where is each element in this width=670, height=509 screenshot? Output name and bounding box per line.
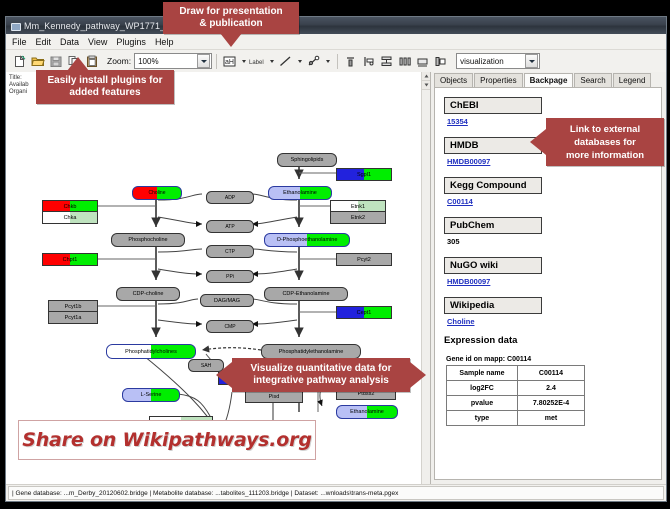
node-label: SAH <box>201 363 211 369</box>
cell-value-sample-name: C00114 <box>518 366 585 381</box>
node-label: Phosphocholine <box>128 237 167 243</box>
tab-legend[interactable]: Legend <box>613 73 652 87</box>
node-label: Phosphatidylcholines <box>125 349 177 355</box>
cell-value-type: met <box>518 411 585 426</box>
anchor-dropdown-icon[interactable] <box>323 52 333 70</box>
callout-install-plugins: Easily install plugins for added feature… <box>36 70 174 104</box>
pathway-gene-node[interactable]: Chka <box>42 211 98 224</box>
tab-properties[interactable]: Properties <box>474 73 522 87</box>
value-pubchem: 305 <box>447 237 661 246</box>
callout-visualize-arrow-left-icon <box>216 362 232 388</box>
node-label: Pcyt1b <box>65 304 82 310</box>
side-panel-tabs: Objects Properties Backpage Search Legen… <box>431 72 666 87</box>
node-label: ADP <box>225 195 235 201</box>
node-label: Chka <box>64 215 77 221</box>
zoom-value: 100% <box>138 57 158 66</box>
callout-links-arrow-icon <box>530 129 546 155</box>
section-header-nugo: NuGO wiki <box>444 257 542 274</box>
align-left-icon[interactable] <box>360 52 377 70</box>
pathway-gene-node[interactable]: Etnk2 <box>330 211 386 224</box>
table-row: Sample name C00114 <box>447 366 585 381</box>
callout-links-line2: databases for <box>574 136 636 149</box>
callout-plugins-arrow-icon <box>67 57 89 71</box>
cell-value-pvalue: 7.80252E-4 <box>518 396 585 411</box>
line-icon[interactable] <box>277 52 294 70</box>
cell-key-pvalue: pvalue <box>447 396 518 411</box>
callout-visualize-line2: integrative pathway analysis <box>253 375 389 387</box>
node-label: ATP <box>225 224 234 230</box>
tab-backpage[interactable]: Backpage <box>524 73 574 88</box>
scroll-up-icon[interactable] <box>422 72 430 81</box>
gene-id-label: Gene id on mapp: C00114 <box>446 356 661 363</box>
link-wikipedia[interactable]: Choline <box>447 317 661 326</box>
svg-text:aH: aH <box>225 59 234 66</box>
visualization-dropdown-icon[interactable] <box>525 54 538 68</box>
pathway-metabolite-node[interactable]: CDP-Ethanolamine <box>264 287 348 301</box>
visualization-combobox[interactable]: visualization <box>456 53 540 69</box>
pathway-gene-node[interactable]: Cept1 <box>336 306 392 319</box>
node-label: Chkb <box>64 204 77 210</box>
tab-search[interactable]: Search <box>574 73 611 87</box>
callout-draw-line1: Draw for presentation <box>179 6 282 18</box>
callout-links-line3: more information <box>566 149 644 162</box>
pathway-gene-node[interactable]: Chpt1 <box>42 253 98 266</box>
zoom-combobox[interactable]: 100% <box>134 53 212 69</box>
pathway-metabolite-node[interactable]: Phosphocholine <box>111 233 185 247</box>
menu-item-file[interactable]: File <box>12 37 27 47</box>
cell-key-sample-name: Sample name <box>447 366 518 381</box>
cell-key-log2fc: log2FC <box>447 381 518 396</box>
z-order-icon[interactable] <box>432 52 449 70</box>
node-label: Etnk2 <box>351 215 365 221</box>
node-label: Cept1 <box>357 310 372 316</box>
node-label: DAG/MAG <box>214 298 240 304</box>
datanode-dropdown-icon[interactable] <box>239 52 249 70</box>
save-disk-icon[interactable] <box>47 52 64 70</box>
line-dropdown-icon[interactable] <box>295 52 305 70</box>
menu-item-edit[interactable]: Edit <box>36 37 52 47</box>
menu-item-plugins[interactable]: Plugins <box>116 37 146 47</box>
expression-data-table: Sample name C00114 log2FC 2.4 pvalue 7.8… <box>446 365 585 426</box>
section-header-wikipedia: Wikipedia <box>444 297 542 314</box>
size-common-icon[interactable] <box>414 52 431 70</box>
node-label: L-Serine <box>141 392 162 398</box>
pathway-gene-node[interactable]: Pcyt1a <box>48 311 98 324</box>
zoom-dropdown-icon[interactable] <box>197 54 210 68</box>
node-label: O-Phosphoethanolamine <box>277 237 338 243</box>
callout-draw-for-publication: Draw for presentation & publication <box>163 2 299 34</box>
node-label: Phosphatidylethanolamine <box>279 349 344 355</box>
callout-plugins-line2: added features <box>69 87 140 99</box>
label-dropdown-icon[interactable] <box>267 52 277 70</box>
section-header-chebi: ChEBI <box>444 97 542 114</box>
visualization-value: visualization <box>460 57 504 66</box>
status-text: | Gene database: ...m_Derby_20120602.bri… <box>8 486 664 500</box>
node-label: Sphingolipids <box>291 157 324 163</box>
node-label: PPi <box>226 274 234 280</box>
new-document-icon[interactable] <box>11 52 28 70</box>
share-text: Share on Wikipathways.org <box>22 429 311 451</box>
pathway-metabolite-node[interactable]: Phosphatidylethanolamine <box>261 344 361 359</box>
link-nugo[interactable]: HMDB00097 <box>447 277 661 286</box>
callout-external-links: Link to external databases for more info… <box>546 118 664 166</box>
share-banner: Share on Wikipathways.org <box>18 420 316 460</box>
link-kegg[interactable]: C00114 <box>447 197 661 206</box>
pathway-gene-node[interactable]: Pcyt2 <box>336 253 392 266</box>
pathway-metabolite-node[interactable]: ADP <box>206 191 254 204</box>
cell-key-type: type <box>447 411 518 426</box>
pathway-metabolite-node[interactable]: Phosphatidylcholines <box>106 344 196 359</box>
zoom-label: Zoom: <box>107 56 131 66</box>
node-label: CDP-Ethanolamine <box>282 291 329 297</box>
node-label: CMP <box>224 324 235 330</box>
pathway-metabolite-node[interactable]: DAG/MAG <box>200 294 254 307</box>
node-label: CDP-choline <box>133 291 164 297</box>
pathway-metabolite-node[interactable]: Ethanolamine <box>336 405 398 419</box>
menu-item-view[interactable]: View <box>88 37 107 47</box>
node-label: Pcyt2 <box>357 257 371 263</box>
node-label: Chpt1 <box>63 257 78 263</box>
tab-objects[interactable]: Objects <box>434 73 473 87</box>
pathway-metabolite-node[interactable]: Choline <box>132 186 182 200</box>
callout-visualize-line1: Visualize quantitative data for <box>251 363 392 375</box>
callout-draw-arrow-icon <box>220 33 242 47</box>
menu-item-help[interactable]: Help <box>155 37 174 47</box>
svg-text:Label: Label <box>249 60 264 66</box>
node-label: Ethanolamine <box>283 190 317 196</box>
pathway-metabolite-node[interactable]: Sphingolipids <box>277 153 337 167</box>
pathway-metabolite-node[interactable]: CTP <box>206 245 254 258</box>
menu-item-data[interactable]: Data <box>60 37 79 47</box>
table-row: pvalue 7.80252E-4 <box>447 396 585 411</box>
callout-links-line1: Link to external <box>570 123 640 136</box>
screenshot-root: Mm_Kennedy_pathway_WP1771_45176.gpml Fil… <box>0 0 670 509</box>
node-label: Sgpl1 <box>357 172 371 178</box>
stack-vertical-icon[interactable] <box>378 52 395 70</box>
section-header-hmdb: HMDB <box>444 137 542 154</box>
callout-plugins-line1: Easily install plugins for <box>47 75 162 87</box>
pathway-metabolite-node[interactable]: CMP <box>206 320 254 333</box>
section-header-kegg: Kegg Compound <box>444 177 542 194</box>
pathway-metabolite-node[interactable]: L-Serine <box>122 388 180 402</box>
open-folder-icon[interactable] <box>29 52 46 70</box>
pathway-metabolite-node[interactable]: CDP-choline <box>116 287 180 301</box>
datanode-icon[interactable]: aH <box>221 52 238 70</box>
table-row: type met <box>447 411 585 426</box>
label-icon[interactable]: Label <box>249 52 266 70</box>
cell-value-log2fc: 2.4 <box>518 381 585 396</box>
pathway-metabolite-node[interactable]: O-Phosphoethanolamine <box>264 233 350 247</box>
pathway-metabolite-node[interactable]: ATP <box>206 220 254 233</box>
align-top-icon[interactable] <box>342 52 359 70</box>
menu-bar: File Edit Data View Plugins Help <box>6 34 666 50</box>
canvas-vertical-scrollbar[interactable] <box>421 72 430 484</box>
scroll-down-icon[interactable] <box>422 81 430 90</box>
status-bar: | Gene database: ...m_Derby_20120602.bri… <box>6 484 666 501</box>
title-bar: Mm_Kennedy_pathway_WP1771_45176.gpml <box>6 17 666 34</box>
toolbar-separator <box>216 54 217 69</box>
callout-draw-line2: & publication <box>199 18 262 30</box>
node-label: Choline <box>149 190 166 196</box>
section-header-pubchem: PubChem <box>444 217 542 234</box>
pathway-metabolite-node[interactable]: PPi <box>206 270 254 283</box>
node-label: Ethanolamine <box>350 409 384 415</box>
expression-data-title: Expression data <box>444 335 661 346</box>
node-label: Etnk1 <box>351 204 365 210</box>
callout-visualize-arrow-right-icon <box>410 362 426 388</box>
application-icon <box>10 21 20 31</box>
pathway-metabolite-node[interactable]: Ethanolamine <box>268 186 332 200</box>
distribute-icon[interactable] <box>396 52 413 70</box>
node-label: CTP <box>225 249 235 255</box>
callout-visualize-data: Visualize quantitative data for integrat… <box>232 358 410 392</box>
table-row: log2FC 2.4 <box>447 381 585 396</box>
anchor-icon[interactable] <box>305 52 322 70</box>
pathway-gene-node[interactable]: Sgpl1 <box>336 168 392 181</box>
toolbar-separator-2 <box>337 54 338 69</box>
node-label: Pisd <box>269 394 280 400</box>
node-label: Pcyt1a <box>65 315 82 321</box>
